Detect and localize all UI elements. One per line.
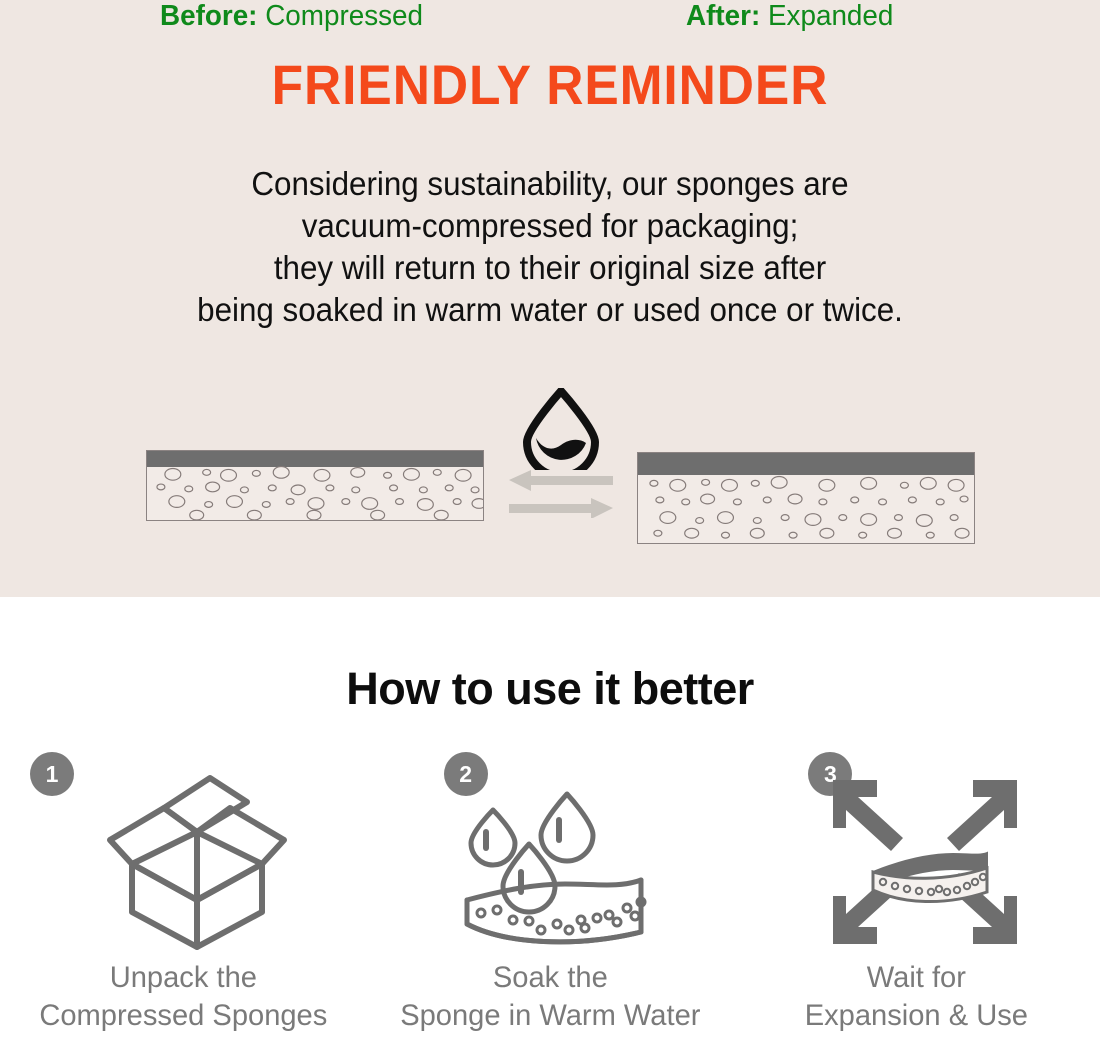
reminder-body-line-3: they will return to their original size … (28, 247, 1073, 289)
compressed-sponge-illustration (146, 450, 484, 521)
open-box-icon (102, 772, 292, 952)
water-drop-icon (521, 388, 601, 466)
step-caption-line-2: Expansion & Use (739, 997, 1095, 1035)
how-to-title: How to use it better (0, 663, 1100, 715)
step-item-3: 3 (733, 747, 1100, 1037)
infographic-page: FRIENDLY REMINDER Considering sustainabi… (0, 0, 1100, 1039)
step-item-1: 1 (0, 747, 367, 1037)
water-drops-on-sponge-icon (445, 772, 655, 952)
exchange-arrows-icon (505, 470, 617, 518)
friendly-reminder-section: FRIENDLY REMINDER Considering sustainabi… (0, 0, 1100, 597)
arrow-up-right-icon (947, 780, 1017, 851)
arrow-right-icon (509, 498, 613, 518)
before-label: Before: Compressed (160, 0, 423, 33)
how-to-use-section: How to use it better 1 (0, 597, 1100, 1039)
step-illustration (0, 772, 367, 952)
step-caption: Soak the Sponge in Warm Water (372, 959, 728, 1035)
sponge-pores-icon (147, 451, 483, 520)
step-caption: Unpack the Compressed Sponges (6, 959, 362, 1035)
before-label-rest: Compressed (257, 0, 423, 32)
step-illustration (367, 772, 734, 952)
before-label-bold: Before: (160, 0, 257, 32)
step-caption-line-1: Wait for (739, 959, 1095, 997)
after-label: After: Expanded (686, 0, 893, 33)
after-label-rest: Expanded (760, 0, 893, 32)
step-caption-line-1: Unpack the (6, 959, 362, 997)
after-label-bold: After: (686, 0, 760, 32)
expanded-sponge-illustration (637, 452, 975, 544)
reminder-body-text: Considering sustainability, our sponges … (28, 163, 1073, 331)
steps-list: 1 (0, 747, 1100, 1037)
step-caption-line-2: Sponge in Warm Water (372, 997, 728, 1035)
sponge-slab-icon (873, 853, 987, 902)
step-caption: Wait for Expansion & Use (739, 959, 1095, 1035)
sponge-pores-icon (638, 453, 974, 543)
arrow-up-left-icon (833, 780, 903, 851)
step-caption-line-2: Compressed Sponges (6, 997, 362, 1035)
arrow-left-icon (509, 470, 613, 491)
expanding-arrows-sponge-icon (825, 772, 1025, 952)
step-caption-line-1: Soak the (372, 959, 728, 997)
reminder-body-line-4: being soaked in warm water or used once … (28, 289, 1073, 331)
reminder-body-line-2: vacuum-compressed for packaging; (28, 205, 1073, 247)
page-title: FRIENDLY REMINDER (44, 56, 1056, 115)
step-illustration (733, 772, 1100, 952)
transformation-indicator (505, 388, 617, 518)
reminder-body-line-1: Considering sustainability, our sponges … (28, 163, 1073, 205)
step-item-2: 2 (367, 747, 734, 1037)
